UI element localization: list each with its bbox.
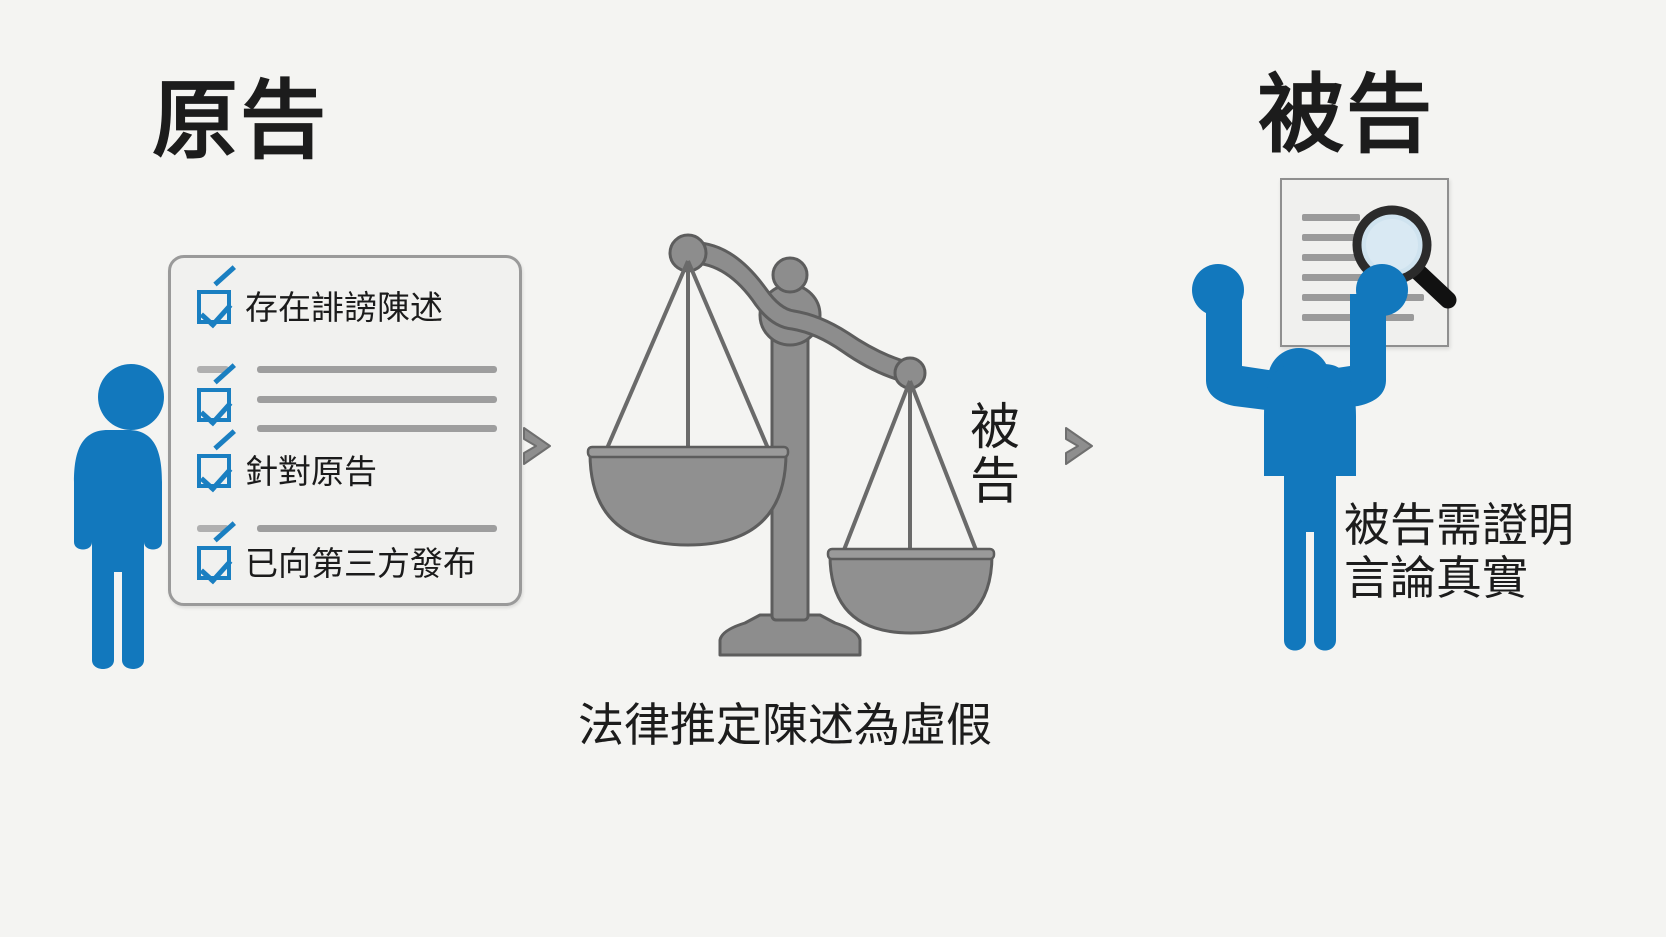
checkbox-checked-icon[interactable]: [197, 454, 231, 488]
checkbox-checked-icon[interactable]: [197, 388, 231, 422]
scale-side-label-char: 告: [967, 454, 1023, 508]
infographic-canvas: 原告 存在誹謗陳述 針對原告: [0, 0, 1666, 937]
placeholder-line: [257, 396, 497, 403]
placeholder-line: [257, 425, 497, 432]
defendant-body: [1186, 280, 1426, 680]
checkbox-checked-icon[interactable]: [197, 290, 231, 324]
scale-caption: 法律推定陳述為虛假: [578, 700, 992, 752]
arrow-right-icon: [1062, 418, 1124, 474]
plaintiff-checklist-card: 存在誹謗陳述 針對原告 已向第三方發布: [168, 255, 522, 606]
list-item[interactable]: [197, 388, 245, 422]
placeholder-line: [257, 366, 497, 373]
arrow-right-icon: [520, 418, 582, 474]
list-item-label: 存在誹謗陳述: [245, 291, 443, 324]
plaintiff-head: [98, 364, 164, 430]
list-item[interactable]: 針對原告: [197, 454, 377, 488]
balance-scale-icon: [580, 215, 1000, 675]
defendant-caption-line1: 被告需證明: [1344, 500, 1574, 552]
list-item[interactable]: 已向第三方發布: [197, 546, 476, 580]
defendant-caption-line2: 言論真實: [1344, 553, 1528, 605]
page-title-defendant: 被告: [1258, 72, 1434, 158]
page-title-plaintiff: 原告: [152, 78, 328, 164]
checkbox-checked-icon[interactable]: [197, 546, 231, 580]
scale-side-label-char: 被: [967, 400, 1023, 454]
list-item-label: 針對原告: [245, 455, 377, 488]
list-item-label: 已向第三方發布: [245, 547, 476, 580]
scale-side-label: 被告 被告: [967, 400, 1023, 508]
placeholder-line: [257, 525, 497, 532]
list-item[interactable]: 存在誹謗陳述: [197, 290, 443, 324]
